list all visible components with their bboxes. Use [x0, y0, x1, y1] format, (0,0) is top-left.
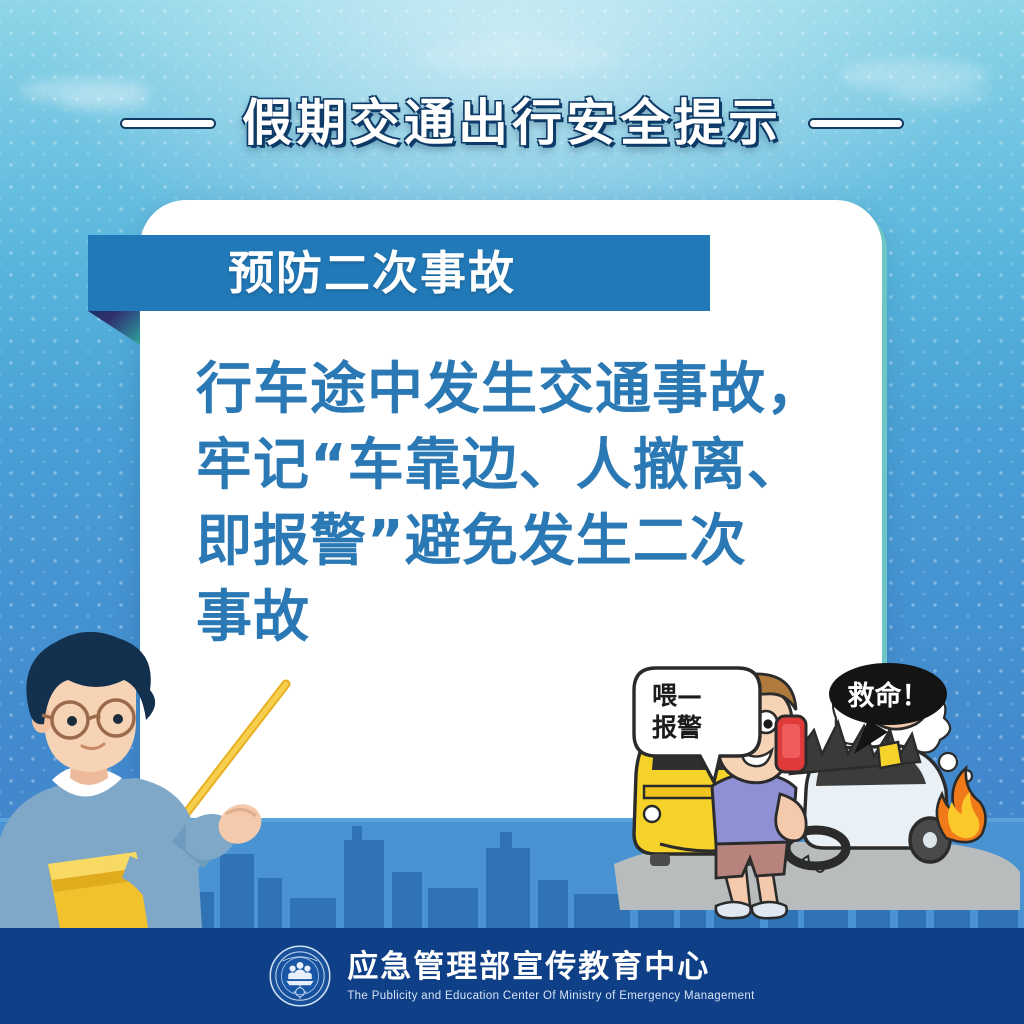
cloud-shape — [420, 40, 620, 74]
footer-text-block: 应急管理部宣传教育中心 The Publicity and Education … — [347, 950, 754, 1001]
footer-org-name-en: The Publicity and Education Center Of Mi… — [347, 990, 754, 1002]
footer-org-name-cn: 应急管理部宣传教育中心 — [347, 950, 754, 984]
section-banner: 预防二次事故 — [88, 235, 710, 311]
eye-right — [113, 714, 123, 724]
accident-scene-illustration: 喂— 报警 救命！ — [600, 658, 1024, 928]
banner-ribbon-fold-icon — [88, 311, 140, 345]
page-title: 假期交通出行安全提示 — [242, 98, 782, 148]
section-banner-label: 预防二次事故 — [228, 250, 516, 296]
teacher-character-illustration — [0, 628, 320, 928]
body-text: 行车途中发生交通事故， 牢记“车靠边、人撤离、 即报警”避免发生二次 事故 — [196, 352, 856, 657]
speech-bubble-help-text: 救命！ — [848, 680, 929, 712]
ministry-seal-logo-icon — [269, 945, 331, 1007]
eye-left — [67, 716, 77, 726]
body-line: 牢记“车靠边、人撤离、 — [196, 428, 856, 504]
footer-bar: 应急管理部宣传教育中心 The Publicity and Education … — [0, 928, 1024, 1024]
title-dash-left-icon — [120, 118, 216, 129]
body-line: 行车途中发生交通事故， — [196, 352, 856, 428]
poster-title-row: 假期交通出行安全提示 — [0, 88, 1024, 158]
speech-bubble-call-line1: 喂— — [652, 681, 702, 710]
title-dash-right-icon — [808, 118, 904, 129]
speech-bubble-call-line2: 报警 — [652, 713, 702, 742]
body-line: 即报警”避免发生二次 — [196, 504, 856, 580]
poster-canvas: 假期交通出行安全提示 预防二次事故 行车途中发生交通事故， 牢记“车靠边、人撤离… — [0, 0, 1024, 1024]
